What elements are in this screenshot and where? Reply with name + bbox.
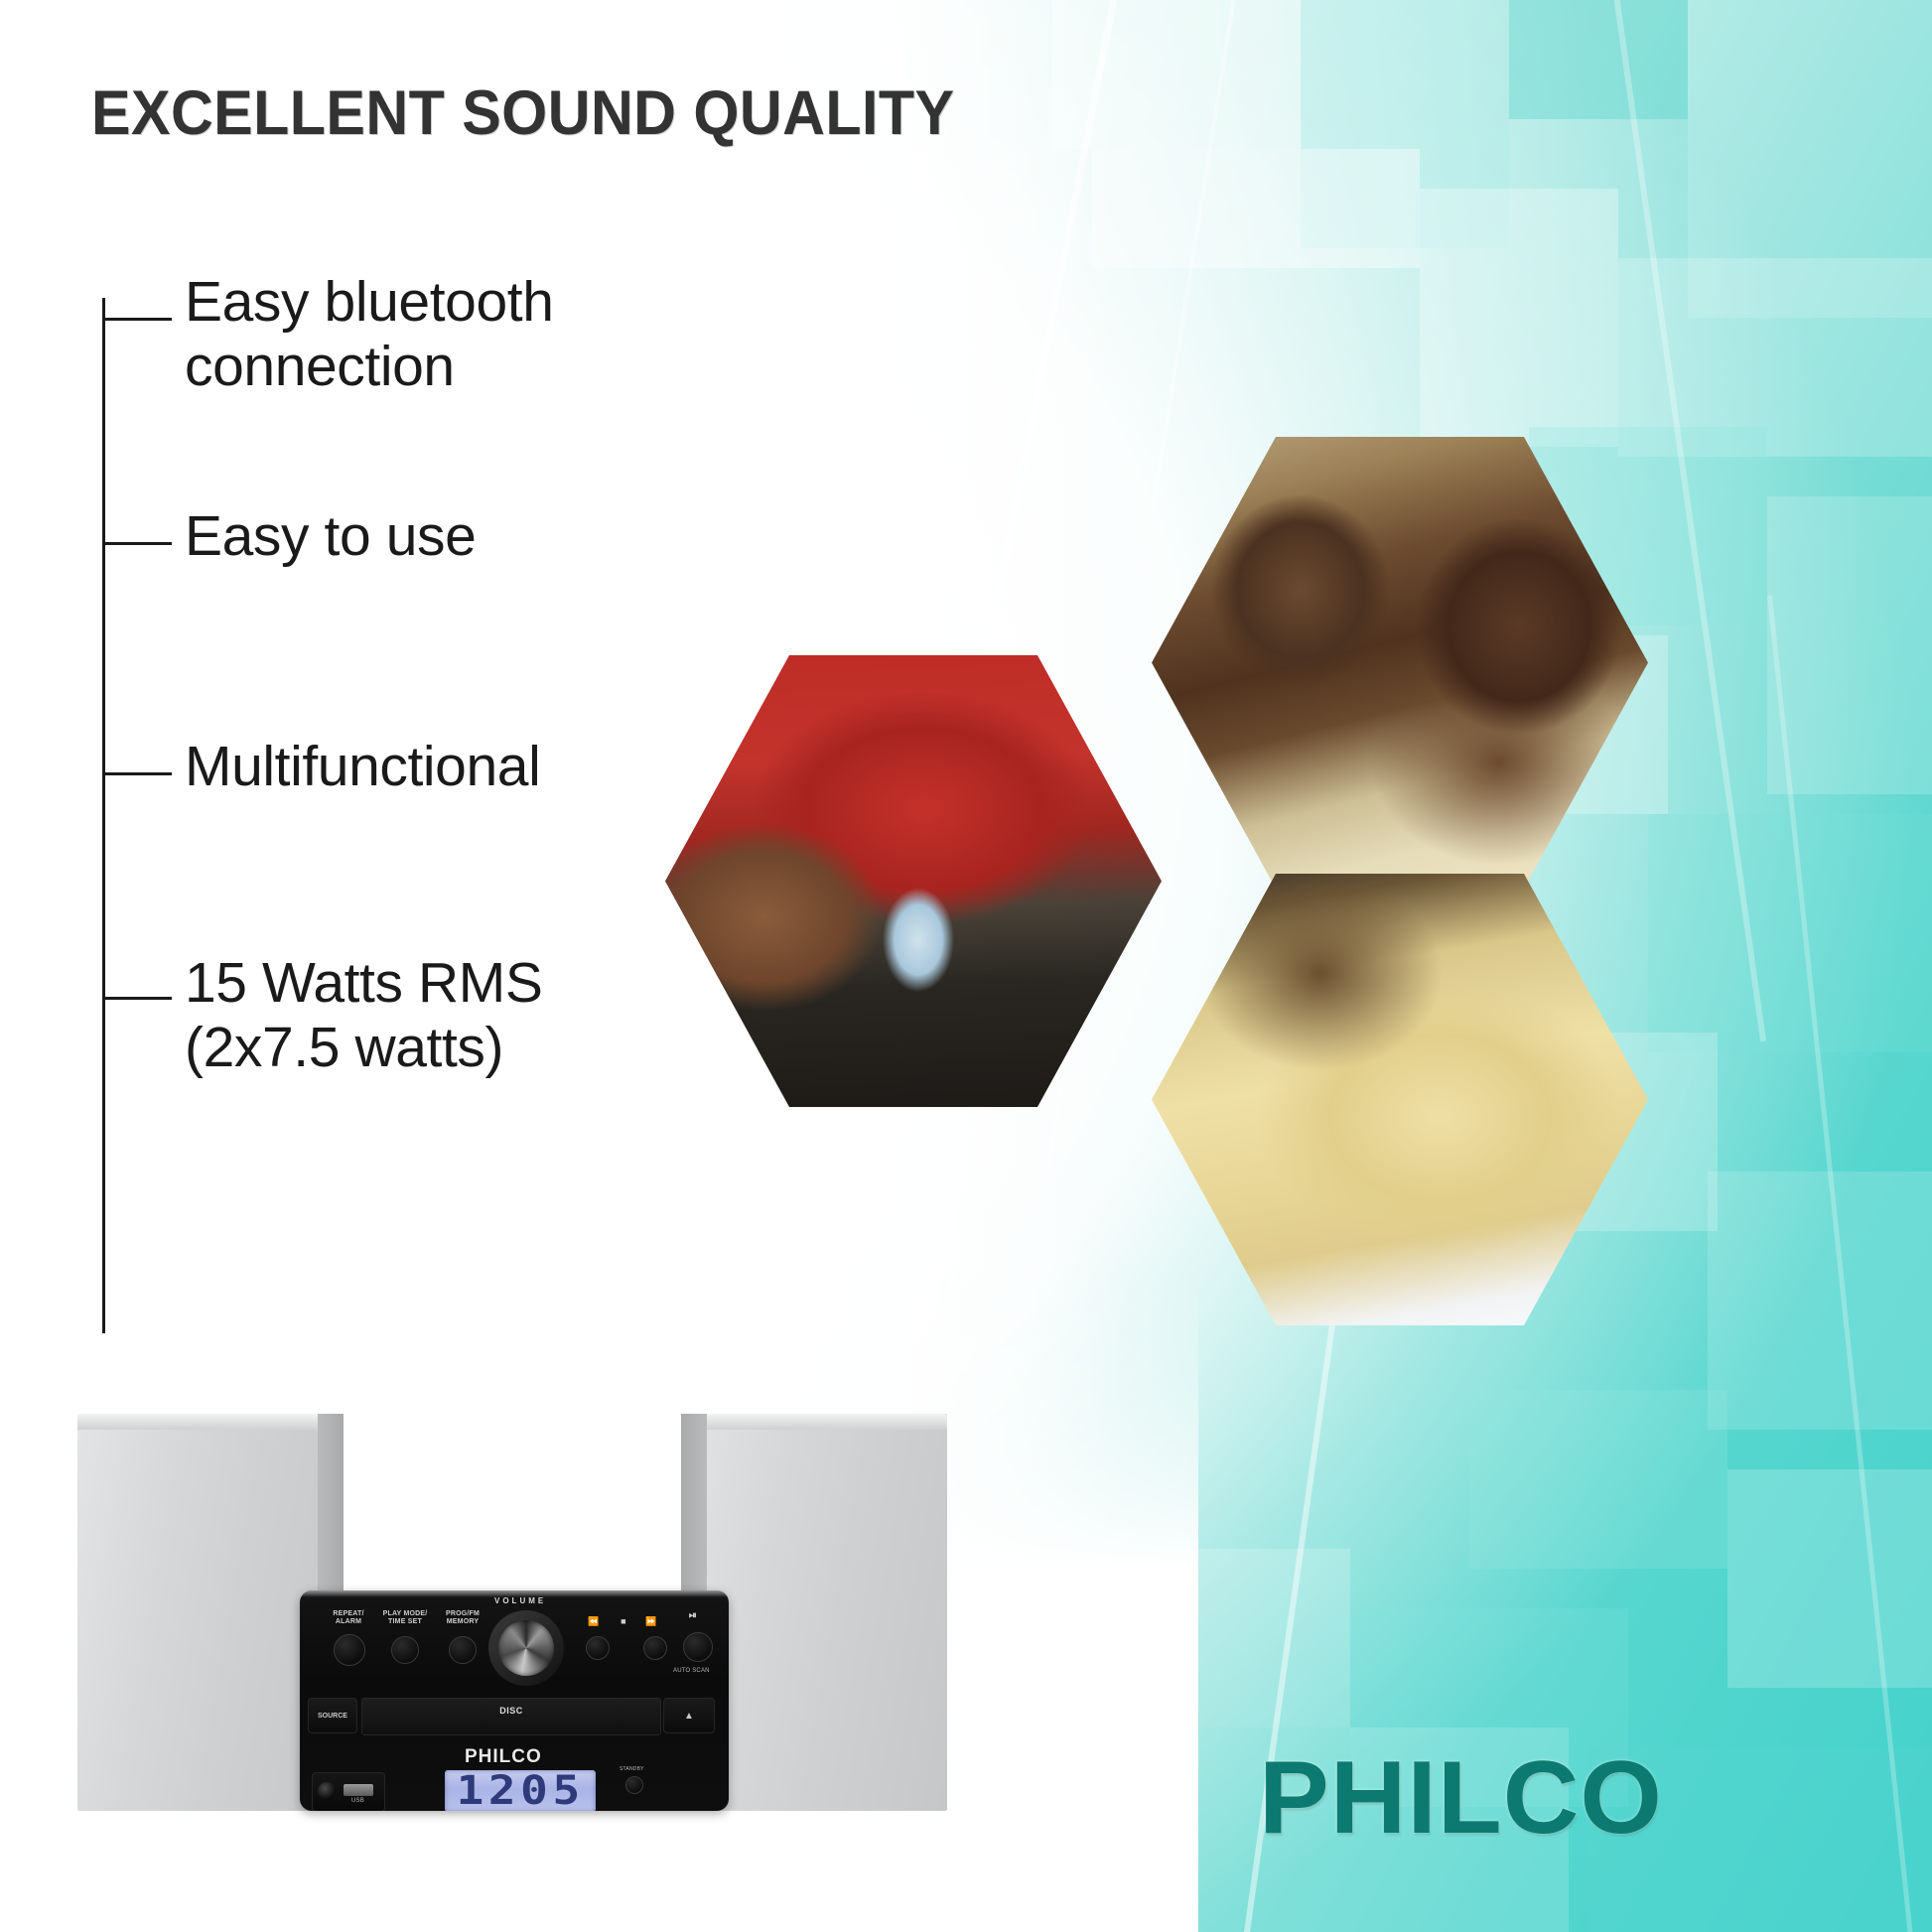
poster-canvas: EXCELLENT SOUND QUALITY Easy bluetooth c… bbox=[0, 0, 1932, 1932]
philco-logo: PHILCO bbox=[1259, 1739, 1663, 1858]
collage-photo-4 bbox=[1152, 874, 1648, 1325]
lcd-display: 1205 bbox=[445, 1770, 596, 1811]
prog-memory-label: PROG/FM MEMORY bbox=[439, 1610, 486, 1626]
previous-button[interactable] bbox=[586, 1636, 610, 1660]
next-icon: ⏩ bbox=[641, 1616, 661, 1626]
page-title: EXCELLENT SOUND QUALITY bbox=[91, 77, 955, 149]
volume-knob[interactable] bbox=[498, 1620, 554, 1676]
feature-tick-1 bbox=[102, 318, 172, 321]
hexagon-photo-collage bbox=[824, 258, 1866, 1608]
next-button[interactable] bbox=[643, 1636, 667, 1660]
play-mode-label: PLAY MODE/ TIME SET bbox=[379, 1610, 431, 1626]
standby-label: STANDBY bbox=[620, 1766, 644, 1772]
usb-label: USB bbox=[351, 1798, 364, 1804]
play-mode-button[interactable] bbox=[391, 1636, 419, 1664]
feature-tick-4 bbox=[102, 997, 172, 1000]
standby-button[interactable] bbox=[625, 1776, 643, 1794]
feature-label-3: Multifunctional bbox=[185, 735, 540, 799]
source-button[interactable]: SOURCE bbox=[308, 1698, 357, 1733]
feature-rail-line bbox=[102, 298, 105, 1333]
play-pause-button[interactable] bbox=[683, 1632, 713, 1662]
cd-logo-label: DISC bbox=[362, 1707, 660, 1716]
product-brand-plate: PHILCO bbox=[465, 1746, 542, 1768]
stereo-main-unit: REPEAT/ ALARM PLAY MODE/ TIME SET PROG/F… bbox=[300, 1590, 729, 1811]
control-panel: REPEAT/ ALARM PLAY MODE/ TIME SET PROG/F… bbox=[300, 1590, 729, 1692]
feature-label-2: Easy to use bbox=[185, 504, 476, 569]
cd-tray[interactable]: DISC bbox=[361, 1698, 661, 1735]
feature-label-4: 15 Watts RMS (2x7.5 watts) bbox=[185, 951, 543, 1080]
repeat-alarm-button[interactable] bbox=[334, 1634, 365, 1666]
stop-icon: ■ bbox=[614, 1616, 633, 1626]
previous-icon: ⏪ bbox=[584, 1616, 604, 1626]
product-image: REPEAT/ ALARM PLAY MODE/ TIME SET PROG/F… bbox=[77, 1414, 947, 1870]
volume-label: VOLUME bbox=[494, 1596, 546, 1605]
feature-tick-2 bbox=[102, 542, 172, 545]
collage-photo-2 bbox=[1152, 437, 1648, 889]
feature-label-1: Easy bluetooth connection bbox=[185, 270, 554, 399]
eject-button[interactable]: ▲ bbox=[663, 1698, 715, 1733]
auto-scan-label: AUTO SCAN bbox=[673, 1668, 710, 1674]
feature-tick-3 bbox=[102, 772, 172, 775]
front-panel: PHILCO USB 1205 STANDBY bbox=[300, 1744, 729, 1811]
lcd-time-value: 1205 bbox=[456, 1768, 584, 1811]
prog-memory-button[interactable] bbox=[449, 1636, 477, 1664]
usb-port[interactable] bbox=[344, 1784, 373, 1796]
play-pause-icon: ⏯ bbox=[681, 1610, 705, 1622]
repeat-alarm-label: REPEAT/ ALARM bbox=[326, 1610, 371, 1626]
